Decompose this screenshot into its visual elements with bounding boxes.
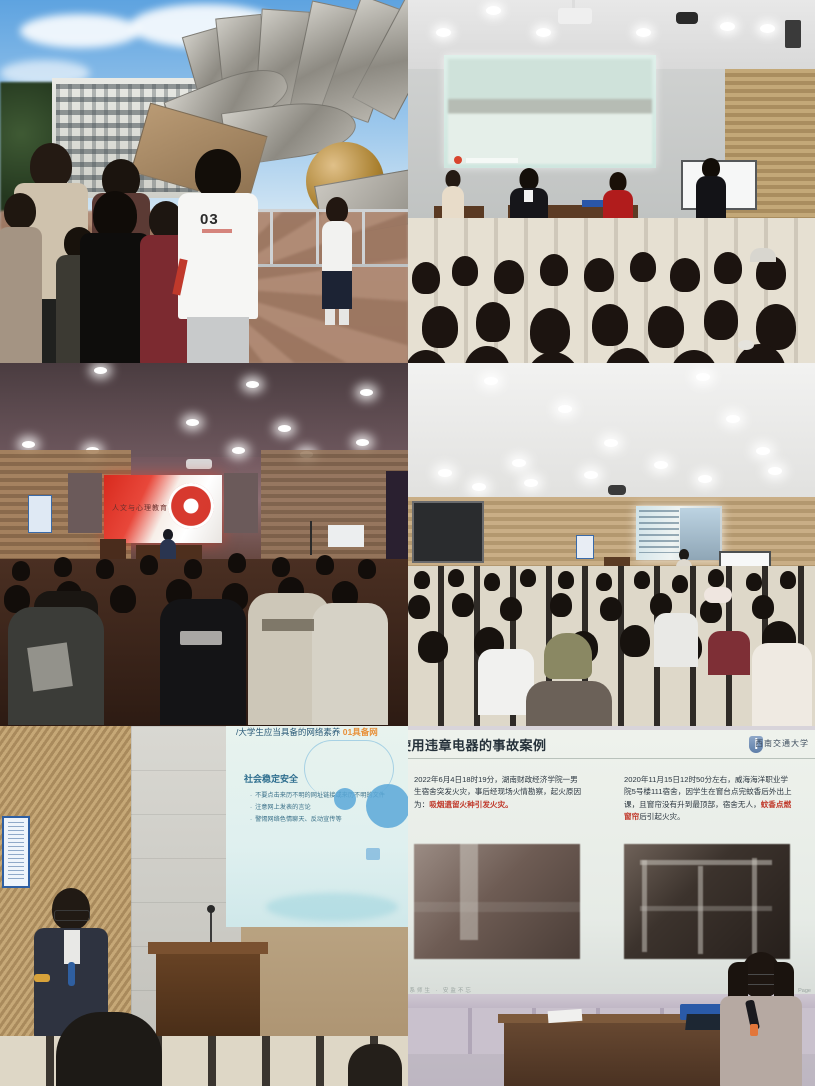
audience-back	[160, 599, 246, 725]
foreground-audience-head	[348, 1044, 402, 1086]
photo-collage: 03	[0, 0, 815, 1086]
wall-speaker	[785, 20, 801, 48]
slide-divider	[408, 758, 815, 759]
slide-header: /大学生应当具备的网络素养 01具备网	[236, 726, 378, 738]
case-text: 2020年11月15日12时50分左右，威海海洋职业学院5号楼111宿舍，因学生…	[624, 774, 794, 823]
audience-back	[752, 643, 812, 726]
photo-panel-bright-lecture-hall	[408, 363, 815, 726]
slide-bullet: 不要点击来历不明的网址链接或来历不明的文件	[250, 790, 385, 802]
camera-tripod	[310, 521, 312, 555]
student-guide-figure	[322, 197, 352, 333]
audience-back	[312, 603, 388, 725]
foreground-audience-head	[56, 1012, 162, 1086]
shirt-number: 03	[200, 211, 219, 228]
audience-back	[654, 613, 698, 667]
papers	[548, 1009, 583, 1023]
slide-bullet-list: 不要点击来历不明的网址链接或来历不明的文件 注意网上发表的言论 警惕网络色情聊天…	[242, 790, 385, 826]
laser-pointer	[34, 974, 50, 982]
slide-bullet: 警惕网络色情聊天、反动宣传等	[250, 814, 385, 826]
presentation-slide: /大学生应当具备的网络素养 01具备网 社会稳定安全 不要点击来历不明的网址链接…	[226, 726, 408, 927]
led-screen-title: 人文与心理教育	[112, 503, 168, 513]
cloud	[20, 14, 140, 48]
podium	[156, 942, 260, 1036]
slide-header-number: 01具备网	[343, 727, 378, 737]
tshirt-graphic	[27, 642, 73, 691]
projection-screen	[444, 55, 656, 168]
audience-back	[708, 631, 750, 675]
decorative-bubble	[366, 784, 408, 828]
photo-panel-fire-safety-cases: 使用违章电器的事故案例 西南交通大学 2022年6月4日18时19分，湖南财政经…	[408, 726, 815, 1086]
handheld-microphone	[68, 962, 75, 986]
decorative-wave	[266, 893, 398, 921]
slide-bullet: 注意网上发表的言论	[250, 802, 385, 814]
notice-poster	[576, 535, 594, 559]
speaker-figure	[160, 529, 176, 561]
photo-panel-network-literacy-talk: /大学生应当具备的网络素养 01具备网 社会稳定安全 不要点击来历不明的网址链接…	[0, 726, 408, 1086]
audience-crowd	[408, 218, 815, 363]
slide-subtitle: 社会稳定安全	[244, 772, 298, 785]
student-figure	[0, 183, 40, 363]
speaker-figure	[720, 952, 802, 1082]
ceiling-projector	[558, 8, 592, 24]
case-column-left: 2022年6月4日18时19分，湖南财政经济学院一男生宿舍突发火灾，事后经现场火…	[414, 774, 584, 811]
decorative-icon	[366, 848, 380, 860]
case-highlight: 吸烟遗留火种引发火灾。	[429, 800, 513, 809]
side-window	[412, 501, 484, 563]
case-text: 2022年6月4日18时19分，湖南财政经济学院一男生宿舍突发火灾，事后经现场火…	[414, 774, 584, 811]
audience-back	[526, 681, 612, 726]
eyeglasses-icon	[54, 910, 90, 921]
student-figure-shirt-03: 03	[178, 149, 258, 363]
microphone-grip	[750, 1024, 758, 1036]
university-name: 西南交通大学	[755, 738, 809, 749]
side-display	[386, 471, 408, 567]
case-text-after: 后引起火灾。	[639, 812, 685, 821]
decorative-bubble	[334, 788, 356, 810]
hair-bow	[704, 587, 732, 603]
photo-panel-led-screen-lecture: 人文与心理教育	[0, 363, 408, 726]
wall-recess	[224, 473, 258, 533]
desk-nameplate	[582, 200, 604, 207]
photo-panel-outdoor-sculpture: 03	[0, 0, 408, 363]
security-camera-icon	[676, 12, 698, 24]
photo-panel-stage-presentation	[408, 0, 815, 363]
slide-title: 使用违章电器的事故案例	[408, 735, 547, 754]
ceiling	[0, 363, 408, 457]
fire-damage-photo	[624, 844, 790, 959]
hair-tie	[738, 340, 754, 350]
slide-footer: 心系师生 · 安监不忘	[408, 986, 473, 994]
floor-microphone	[210, 912, 212, 946]
whiteboard	[328, 525, 364, 547]
wall-recess	[68, 473, 102, 533]
security-camera-icon	[608, 485, 626, 495]
cap	[750, 248, 776, 262]
slide-header-text: /大学生应当具备的网络素养	[236, 727, 340, 737]
ceiling-projector	[186, 459, 212, 469]
notice-poster	[28, 495, 52, 533]
podium	[100, 539, 126, 561]
tshirt-graphic	[180, 631, 222, 645]
case-column-right: 2020年11月15日12时50分左右，威海海洋职业学院5号楼111宿舍，因学生…	[624, 774, 794, 823]
notice-poster	[2, 816, 30, 888]
baseball-cap	[544, 633, 592, 679]
decorative-motif	[168, 483, 214, 529]
tshirt-graphic	[262, 619, 314, 631]
fire-damage-photo	[414, 844, 580, 959]
